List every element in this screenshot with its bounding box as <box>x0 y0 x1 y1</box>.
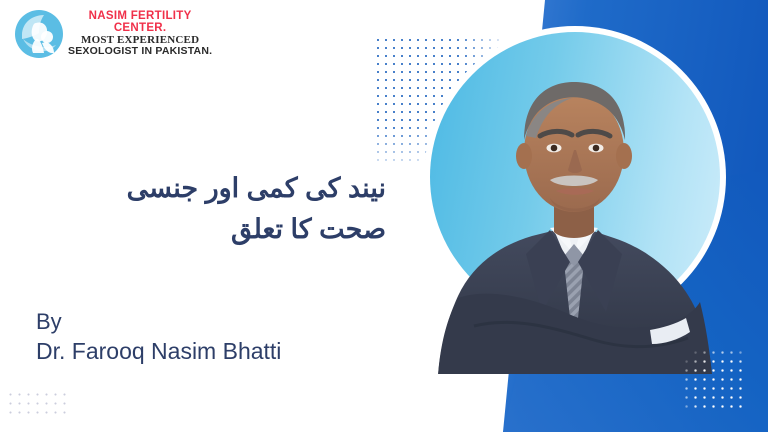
logo-line-1: NASIM FERTILITY <box>68 11 212 23</box>
slide-canvas: NASIM FERTILITY CENTER. MOST EXPERIENCED… <box>0 0 768 432</box>
byline-author-name: Dr. Farooq Nasim Bhatti <box>36 336 281 367</box>
logo-line-2: CENTER. <box>68 23 212 35</box>
logo-line-4: SEXOLOGIST IN PAKISTAN. <box>68 46 212 57</box>
headline-line-2: صحت کا تعلق <box>28 209 386 250</box>
portrait-photo <box>430 32 720 374</box>
dot-grid-bottom-right <box>682 348 746 412</box>
byline: By Dr. Farooq Nasim Bhatti <box>36 307 281 367</box>
brand-logo[interactable]: NASIM FERTILITY CENTER. MOST EXPERIENCED… <box>14 6 226 62</box>
dot-grid-bottom-left <box>6 390 72 420</box>
byline-prefix: By <box>36 307 281 336</box>
mother-and-child-circle-icon <box>14 9 64 59</box>
headline: نیند کی کمی اور جنسی صحت کا تعلق <box>28 168 386 250</box>
headline-line-1: نیند کی کمی اور جنسی <box>28 168 386 209</box>
